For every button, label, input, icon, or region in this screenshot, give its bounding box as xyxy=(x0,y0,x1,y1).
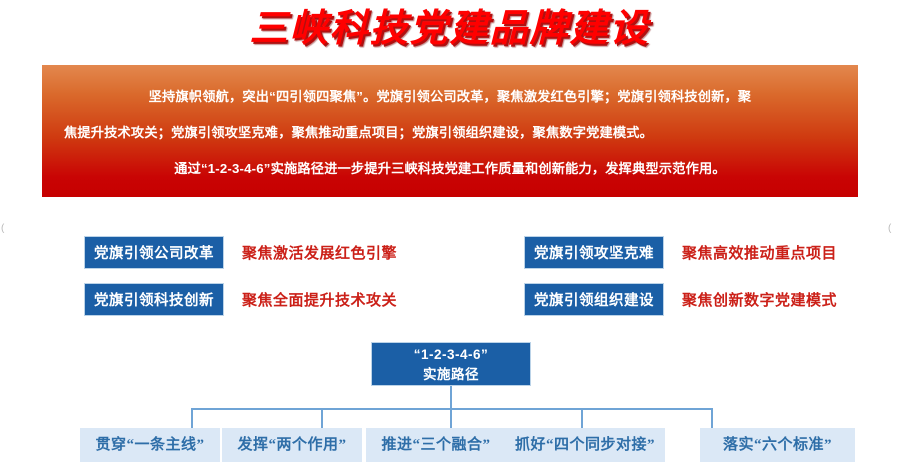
slide-canvas: 三峡科技党建品牌建设 坚持旗帜领航，突出“四引领四聚焦”。党旗引领公司改革，聚焦… xyxy=(0,0,899,462)
banner-line-1: 坚持旗帜领航，突出“四引领四聚焦”。党旗引领公司改革，聚焦激发红色引擎；党旗引领… xyxy=(64,79,836,115)
leaf-node-1[interactable]: 贯穿“一条主线” xyxy=(80,428,220,462)
pillar-desc-1: 聚焦激活发展红色引擎 xyxy=(242,242,397,263)
implementation-path-node[interactable]: “1-2-3-4-6” 实施路径 xyxy=(371,342,531,386)
leaf-node-5[interactable]: 落实“六个标准” xyxy=(700,428,855,462)
edge-artifact-left: ( xyxy=(1,224,4,234)
summary-banner: 坚持旗帜领航，突出“四引领四聚焦”。党旗引领公司改革，聚焦激发红色引擎；党旗引领… xyxy=(42,65,858,197)
page-title: 三峡科技党建品牌建设 xyxy=(0,6,899,52)
path-node-label: 实施路径 xyxy=(372,365,530,385)
pillar-row-4[interactable]: 党旗引领组织建设 聚焦创新数字党建模式 xyxy=(524,283,837,316)
pillar-row-2[interactable]: 党旗引领科技创新 聚焦全面提升技术攻关 xyxy=(84,283,397,316)
pillar-row-1[interactable]: 党旗引领公司改革 聚焦激活发展红色引擎 xyxy=(84,236,397,269)
pillar-tag-1[interactable]: 党旗引领公司改革 xyxy=(84,236,224,269)
pillar-desc-4: 聚焦创新数字党建模式 xyxy=(682,289,837,310)
pillar-tag-2[interactable]: 党旗引领科技创新 xyxy=(84,283,224,316)
pillar-desc-2: 聚焦全面提升技术攻关 xyxy=(242,289,397,310)
pillar-tag-3[interactable]: 党旗引领攻坚克难 xyxy=(524,236,664,269)
edge-artifact-right: ( xyxy=(888,224,891,234)
banner-line-2: 焦提升技术攻关；党旗引领攻坚克难，聚焦推动重点项目；党旗引领组织建设，聚焦数字党… xyxy=(64,115,836,151)
pillar-row-3[interactable]: 党旗引领攻坚克难 聚焦高效推动重点项目 xyxy=(524,236,837,269)
leaf-node-4[interactable]: 抓好“四个同步对接” xyxy=(505,428,665,462)
banner-line-3: 通过“1-2-3-4-6”实施路径进一步提升三峡科技党建工作质量和创新能力，发挥… xyxy=(64,151,836,187)
leaf-node-2[interactable]: 发挥“两个作用” xyxy=(222,428,362,462)
pillar-desc-3: 聚焦高效推动重点项目 xyxy=(682,242,837,263)
path-node-code: “1-2-3-4-6” xyxy=(372,345,530,365)
leaf-node-3[interactable]: 推进“三个融合” xyxy=(366,428,506,462)
pillar-tag-4[interactable]: 党旗引领组织建设 xyxy=(524,283,664,316)
